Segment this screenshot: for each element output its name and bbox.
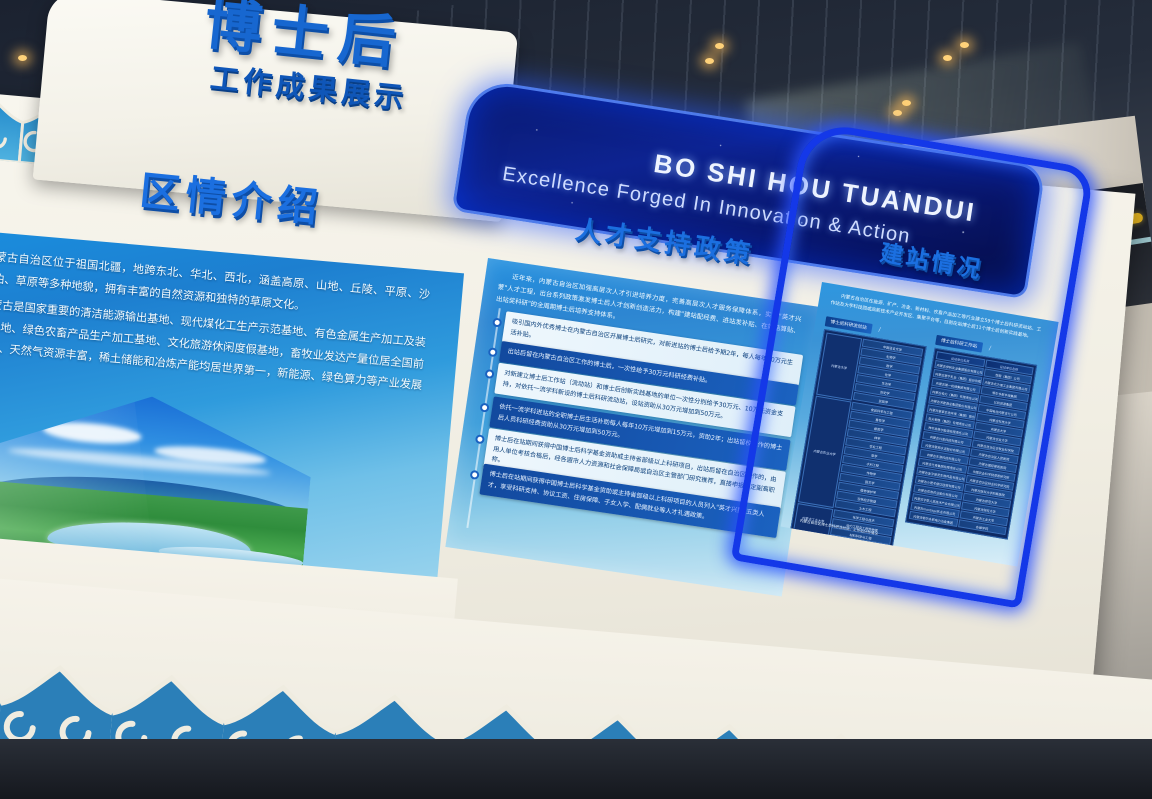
panel-2-timeline-dot	[475, 434, 485, 444]
exhibition-booth-screenshot: 博士后 工作成果展示 BO SHI HOU TUANDUI Excellence…	[0, 0, 1152, 799]
panel-2-timeline-dot	[488, 347, 498, 357]
panel-2-content: 近年来，内蒙古自治区加强高层次人才引进培养力度，完善高层次人才服务保障体系，实施…	[445, 258, 824, 597]
panel-2-timeline-dot	[484, 369, 494, 379]
table-row: 内蒙古农业大学食品科学与工程畜牧学兽医学林学农业工程草学水利工程作物学园艺学植物…	[798, 396, 913, 519]
panel-2-timeline-dot	[470, 470, 480, 480]
panel-1-text: 内蒙古自治区位于祖国北疆，地跨东北、华北、西北，涵盖高原、山地、丘陵、平原、沙漠…	[0, 244, 431, 423]
panel-2-timeline-dot	[479, 403, 489, 413]
panel-2-policy-list: 吸引国内外优秀博士在内蒙古自治区开展博士后研究，对新进站的博士后给予期2年，每人…	[446, 307, 817, 594]
postdoc-work-station-table: 设站单位名称设站单位名称内蒙古伊利实业集团股份有限公司包钢（集团）公司内蒙古蒙牛…	[905, 348, 1037, 540]
table-cell-group: 中国语言文学生物学数学化学生态学历史学民族学	[853, 339, 924, 411]
panel-2-timeline-dot	[492, 317, 502, 327]
panel-3-content: 内蒙古自治区在能源、矿产、冶金、新材料、农畜产品加工等行业建立59个博士后科研流…	[781, 282, 1059, 567]
booth-structure: 博士后 工作成果展示 BO SHI HOU TUANDUI Excellence…	[0, 0, 1152, 799]
hall-floor	[0, 739, 1152, 799]
